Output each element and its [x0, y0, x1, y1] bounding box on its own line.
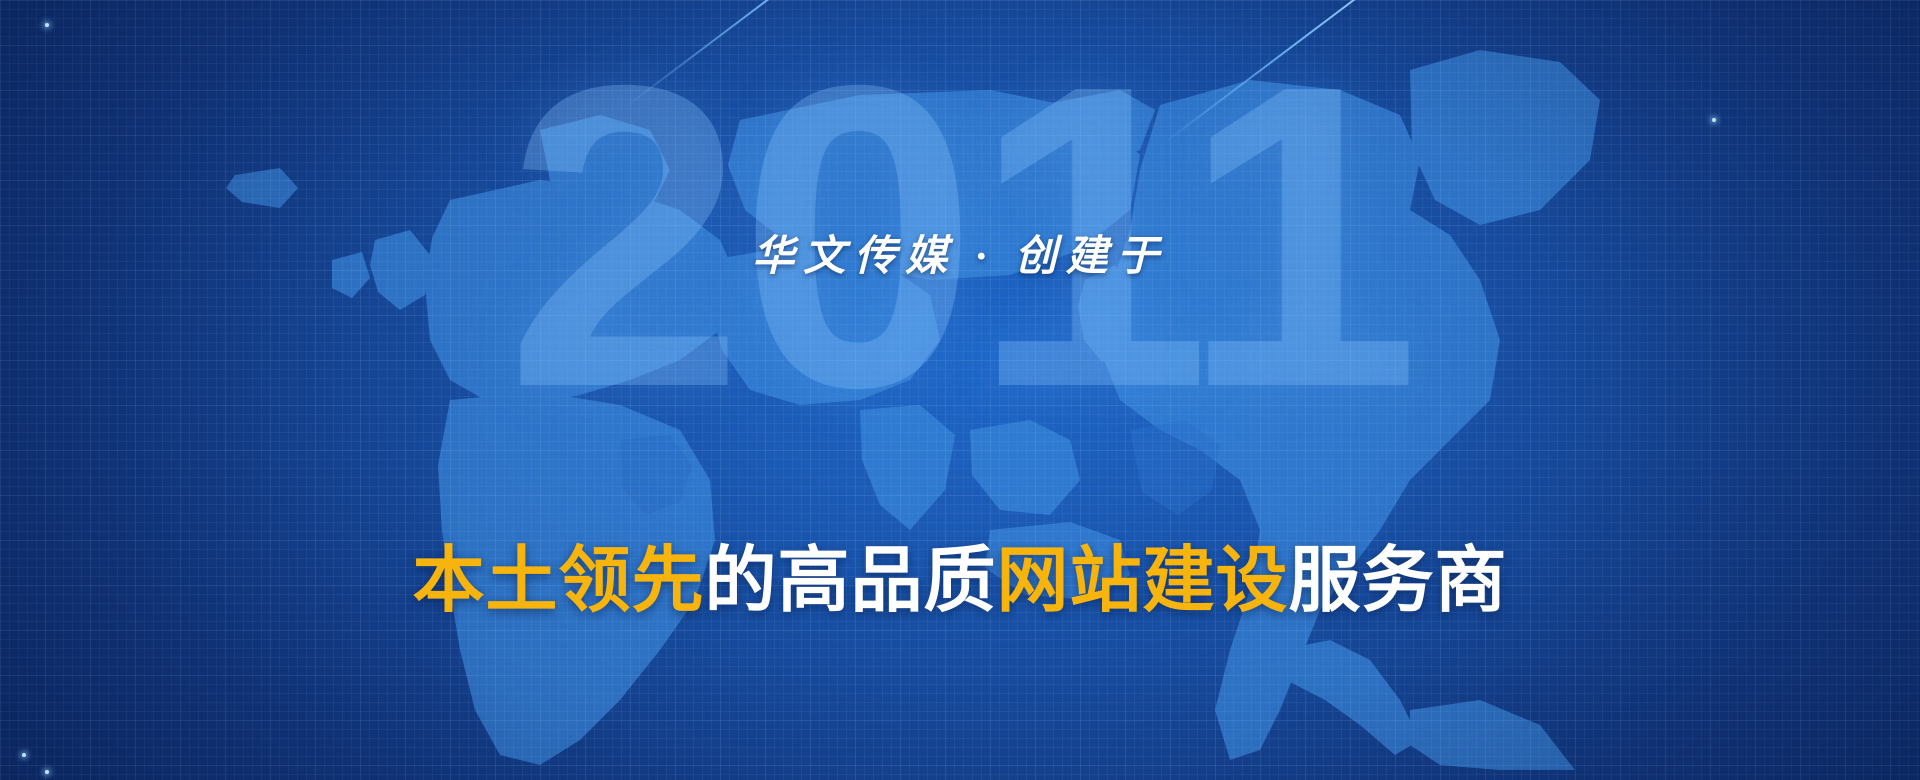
- glow-dot-icon: [22, 753, 26, 757]
- headline-segment-1: 本土领先: [412, 541, 704, 621]
- banner-headline: 本土领先的高品质网站建设服务商: [0, 545, 1920, 617]
- headline-segment-3: 网站建设: [997, 541, 1289, 621]
- glow-dot-icon: [1712, 118, 1716, 122]
- headline-segment-2: 的高品质: [704, 541, 996, 621]
- glow-dot-icon: [45, 770, 49, 774]
- hero-banner: 2011 华文传媒 · 创建于 本土领先的高品质网站建设服务商: [0, 0, 1920, 780]
- banner-tagline: 华文传媒 · 创建于: [0, 222, 1920, 283]
- vignette-overlay: [0, 0, 1920, 780]
- glow-dot-icon: [45, 23, 49, 27]
- headline-segment-4: 服务商: [1289, 541, 1508, 621]
